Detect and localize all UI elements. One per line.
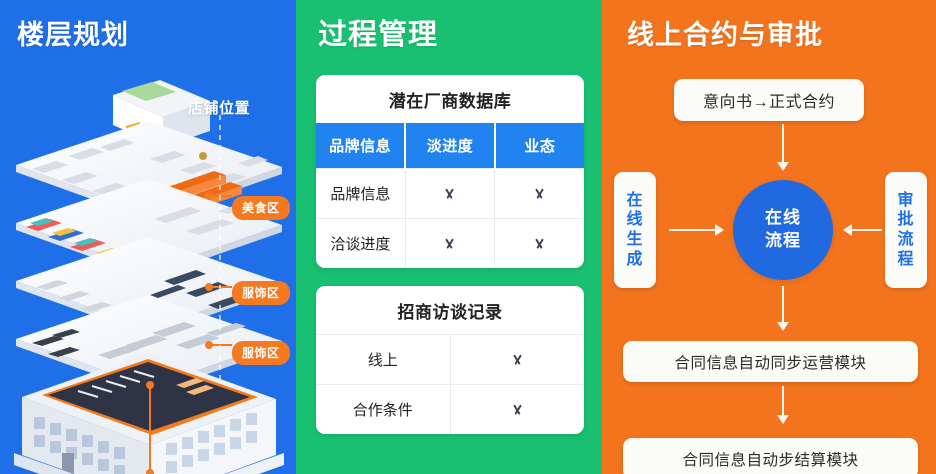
vchar: 审	[897, 191, 914, 211]
box-online-generation: 在 线 生 成	[614, 172, 656, 288]
arrow-head-right	[843, 224, 852, 236]
card-title-interview-records: 招商访谈记录	[316, 286, 584, 334]
arrow-shaft-mid	[782, 286, 784, 324]
check-mark-icon	[510, 355, 525, 364]
table-row: 品牌信息	[316, 169, 584, 219]
column-header-progress: 淡进度	[405, 123, 494, 169]
check-mark-icon	[532, 239, 547, 248]
panel-online-contract: 线上合约与审批 意向书→正式合约 在 线 生 成 审 批 流 程 在线 流程	[602, 0, 936, 474]
zone-pill-apparel-1: 服饰区	[232, 281, 290, 305]
arrow-head-top	[777, 162, 789, 171]
row-label-negotiation-progress: 洽谈进度	[316, 219, 405, 269]
vchar: 在	[626, 191, 643, 211]
check-mark-icon	[442, 239, 457, 248]
arrow-shaft-bottom	[782, 386, 784, 416]
box-contract-sync-settlement: 合同信息自动步结算模块	[623, 438, 918, 474]
zone-pill-apparel-2: 服饰区	[232, 341, 290, 365]
circle-line-1: 在线	[765, 207, 801, 230]
center-circle-online-process: 在线 流程	[733, 180, 833, 280]
cell-check	[495, 169, 584, 219]
isometric-mall-illustration	[0, 55, 296, 474]
panel-process-management: 过程管理 潜在厂商数据库 品牌信息 淡进度 业态 品牌信息	[296, 0, 602, 474]
cell-check	[495, 219, 584, 269]
cell-check	[450, 385, 584, 435]
vendor-database-table: 品牌信息 淡进度 业态 品牌信息 洽谈进度	[316, 123, 584, 268]
panel-floor-planning: 楼层规划	[0, 0, 296, 474]
arrow-head-bottom	[777, 415, 789, 424]
table-header-row: 品牌信息 淡进度 业态	[316, 123, 584, 169]
circle-line-2: 流程	[765, 230, 801, 253]
table-row: 线上	[316, 335, 584, 385]
infographic-root: 楼层规划	[0, 0, 936, 474]
row-label-cooperation-terms: 合作条件	[316, 385, 450, 435]
zone-pill-food: 美食区	[232, 196, 290, 220]
base-dot-top	[146, 381, 154, 389]
vchar: 成	[626, 250, 643, 270]
table-row: 合作条件	[316, 385, 584, 435]
box-intent-to-contract: 意向书→正式合约	[674, 79, 864, 121]
row-label-brand-info: 品牌信息	[316, 169, 405, 219]
row-label-online: 线上	[316, 335, 450, 385]
panel-title-floor-planning: 楼层规划	[17, 13, 129, 52]
card-title-vendor-database: 潜在厂商数据库	[316, 75, 584, 123]
column-header-brand: 品牌信息	[316, 123, 405, 169]
vchar: 批	[897, 210, 914, 230]
cell-check	[450, 335, 584, 385]
arrow-shaft-right	[852, 229, 882, 231]
panel-title-process-management: 过程管理	[318, 11, 438, 53]
vchar: 流	[897, 230, 914, 250]
arrow-shaft-left	[669, 229, 715, 231]
interview-records-table: 线上 合作条件	[316, 334, 584, 434]
box-approval-process: 审 批 流 程	[885, 172, 927, 288]
arrow-head-mid	[777, 322, 789, 331]
card-interview-records: 招商访谈记录 线上 合作条件	[316, 286, 584, 434]
vchar: 生	[626, 230, 643, 250]
box-contract-sync-operations: 合同信息自动同步运营模块	[623, 341, 918, 382]
vchar: 线	[626, 210, 643, 230]
check-mark-icon	[532, 189, 547, 198]
check-mark-icon	[442, 189, 457, 198]
cell-check	[405, 219, 494, 269]
column-header-format: 业态	[495, 123, 584, 169]
panel-title-online-contract: 线上合约与审批	[627, 13, 823, 52]
arrow-head-left	[715, 224, 724, 236]
arrow-shaft-top	[782, 124, 784, 164]
cell-check	[405, 169, 494, 219]
vchar: 程	[897, 250, 914, 270]
table-row: 洽谈进度	[316, 219, 584, 269]
check-mark-icon	[510, 405, 525, 414]
card-vendor-database: 潜在厂商数据库 品牌信息 淡进度 业态 品牌信息	[316, 75, 584, 268]
store-position-label: 店铺位置	[188, 97, 250, 118]
